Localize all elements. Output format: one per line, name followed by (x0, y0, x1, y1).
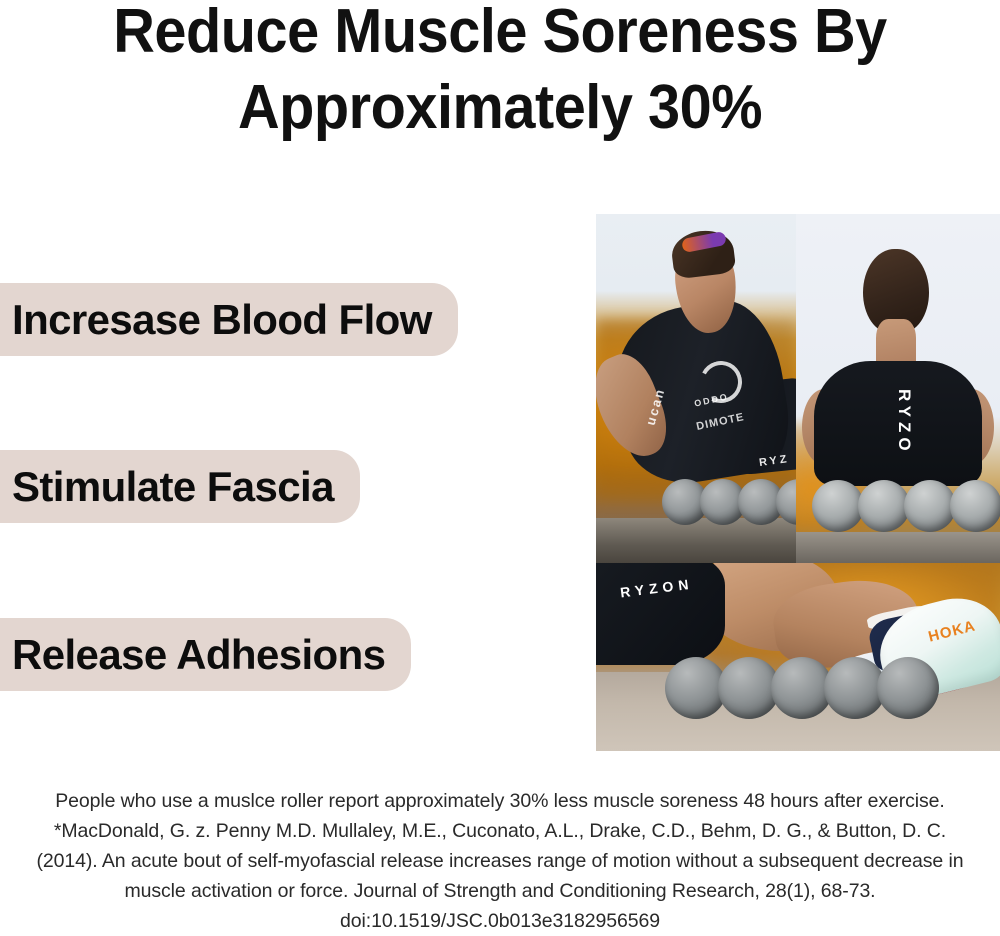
page-headline: Reduce Muscle Soreness By Approximately … (35, 0, 965, 146)
roller-ball (812, 480, 864, 532)
headline-line-2: Approximately 30% (35, 70, 965, 146)
benefit-label: Stimulate Fascia (12, 465, 334, 509)
benefit-pill-blood-flow: Incresase Blood Flow (0, 283, 458, 356)
benefit-list: Incresase Blood Flow Stimulate Fascia Re… (0, 283, 580, 691)
photo-athlete-back-roll: RYZO (796, 214, 1000, 563)
massage-roller (662, 479, 796, 525)
roller-ball (776, 479, 796, 525)
spacer (0, 523, 580, 618)
roller-ball (858, 480, 910, 532)
jersey-brand: RYZO (894, 389, 914, 456)
headline-line-1: Reduce Muscle Soreness By (35, 0, 965, 70)
photo-legs-roller-shoe: RYZON HOKA (596, 563, 1000, 751)
massage-roller (665, 657, 930, 719)
photo-collage: ODDO DIMOTE ucan RYZ RYZO (596, 214, 1000, 751)
athlete-shorts (596, 563, 725, 665)
footnote-citation: People who use a muslce roller report ap… (28, 786, 972, 936)
ground-surface (796, 532, 1000, 563)
massage-roller (812, 480, 996, 532)
benefit-label: Incresase Blood Flow (12, 298, 432, 342)
benefit-label: Release Adhesions (12, 633, 385, 677)
roller-ball (950, 480, 1000, 532)
roller-ball (877, 657, 939, 719)
benefit-pill-fascia: Stimulate Fascia (0, 450, 360, 523)
benefit-pill-adhesions: Release Adhesions (0, 618, 411, 691)
photo-athlete-hamstring-roll: ODDO DIMOTE ucan RYZ (596, 214, 796, 563)
roller-ball (904, 480, 956, 532)
spacer (0, 356, 580, 450)
